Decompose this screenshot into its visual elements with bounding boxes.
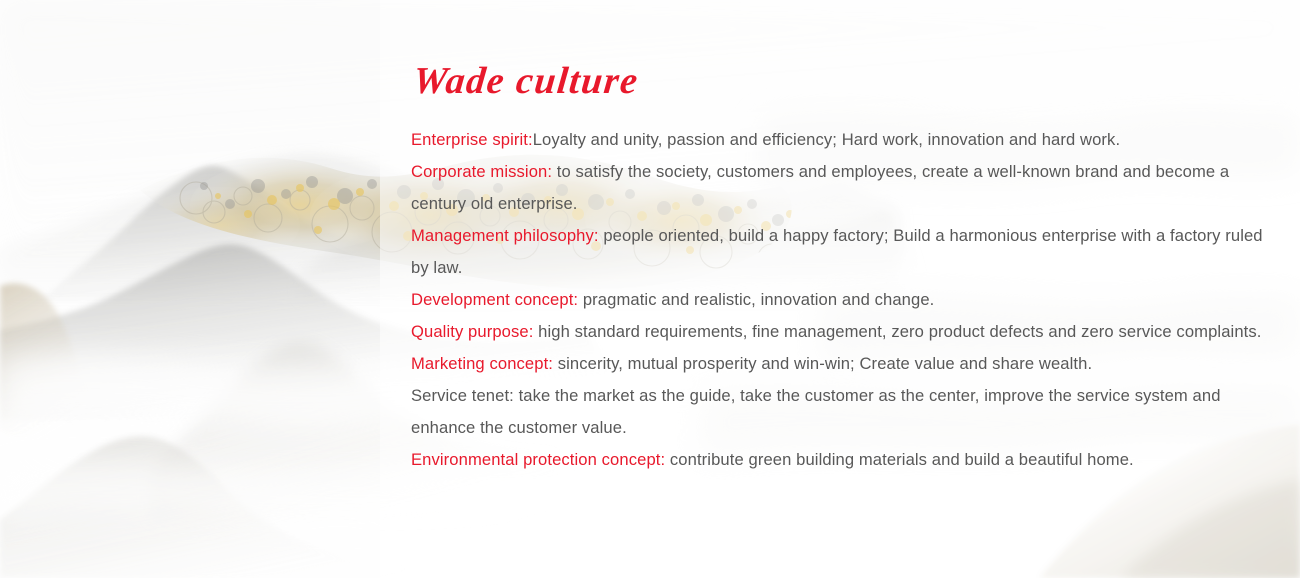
culture-entry-label: Service tenet:	[411, 386, 514, 405]
culture-entry: Management philosophy: people oriented, …	[411, 220, 1271, 284]
culture-entry-label: Quality purpose:	[411, 322, 533, 341]
culture-entry: Corporate mission: to satisfy the societ…	[411, 156, 1271, 220]
culture-entry-text: contribute green building materials and …	[665, 450, 1134, 469]
culture-entry-text: Loyalty and unity, passion and efficienc…	[533, 130, 1120, 149]
culture-entry-label: Development concept:	[411, 290, 578, 309]
culture-entry-text: pragmatic and realistic, innovation and …	[578, 290, 934, 309]
culture-entry: Enterprise spirit:Loyalty and unity, pas…	[411, 124, 1271, 156]
page-title: Wade culture	[411, 58, 1276, 104]
culture-entry: Marketing concept: sincerity, mutual pro…	[411, 348, 1271, 380]
culture-page: Wade culture Enterprise spirit:Loyalty a…	[0, 0, 1300, 578]
culture-entry-text: sincerity, mutual prosperity and win-win…	[553, 354, 1092, 373]
culture-entry: Environmental protection concept: contri…	[411, 444, 1271, 476]
culture-entry-text: high standard requirements, fine managem…	[533, 322, 1261, 341]
culture-entry-label: Corporate mission:	[411, 162, 552, 181]
culture-entry-label: Management philosophy:	[411, 226, 599, 245]
culture-entry: Development concept: pragmatic and reali…	[411, 284, 1271, 316]
culture-entry-label: Marketing concept:	[411, 354, 553, 373]
foreground-ridge-bottom-left	[0, 436, 470, 578]
culture-entry-text: take the market as the guide, take the c…	[411, 386, 1221, 437]
warm-ridge-bottom-right-accent	[1120, 480, 1300, 578]
culture-entry-list: Enterprise spirit:Loyalty and unity, pas…	[411, 124, 1271, 476]
culture-entry: Service tenet: take the market as the gu…	[411, 380, 1271, 444]
warm-cliff-far-left	[0, 283, 110, 441]
culture-content: Wade culture Enterprise spirit:Loyalty a…	[411, 58, 1271, 476]
culture-entry: Quality purpose: high standard requireme…	[411, 316, 1271, 348]
culture-entry-label: Environmental protection concept:	[411, 450, 665, 469]
culture-entry-label: Enterprise spirit:	[411, 130, 533, 149]
